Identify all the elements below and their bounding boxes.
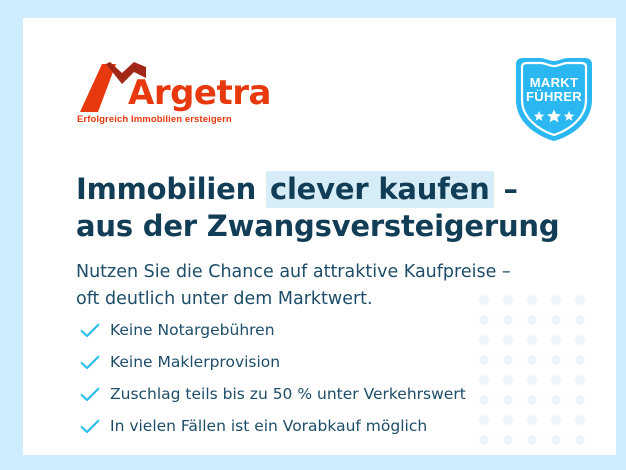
- list-item-label: Keine Maklerprovision: [110, 353, 280, 372]
- subheadline: Nutzen Sie die Chance auf attraktive Kau…: [76, 259, 556, 314]
- subheadline-line-2: oft deutlich unter dem Marktwert.: [76, 286, 556, 314]
- decorative-dot: [551, 355, 561, 365]
- list-item: Keine Notargebühren: [80, 316, 540, 345]
- list-item-label: Zuschlag teils bis zu 50 % unter Verkehr…: [110, 385, 466, 404]
- logo-wordmark: Argetra: [128, 76, 271, 110]
- headline-highlight: clever kaufen: [266, 171, 494, 208]
- decorative-dot: [551, 395, 561, 405]
- marktfuehrer-badge: MARKT FÜHRER: [510, 54, 598, 144]
- decorative-dot: [551, 415, 561, 425]
- decorative-dot: [575, 395, 585, 405]
- check-icon: [80, 321, 110, 341]
- headline: Immobilien clever kaufen – aus der Zwang…: [76, 171, 546, 244]
- decorative-dot: [551, 315, 561, 325]
- check-icon: [80, 353, 110, 373]
- list-item: In vielen Fällen ist ein Vorabkauf mögli…: [80, 412, 540, 441]
- promo-banner: Argetra Erfolgreich Immobilien ersteiger…: [0, 0, 626, 470]
- list-item-label: In vielen Fällen ist ein Vorabkauf mögli…: [110, 417, 427, 436]
- decorative-dot: [575, 315, 585, 325]
- headline-suffix: –: [494, 172, 518, 206]
- benefit-list: Keine Notargebühren Keine Maklerprovisio…: [80, 316, 540, 444]
- decorative-dot: [575, 375, 585, 385]
- banner-card: Argetra Erfolgreich Immobilien ersteiger…: [23, 18, 616, 455]
- argetra-logo: Argetra Erfolgreich Immobilien ersteiger…: [76, 62, 276, 132]
- decorative-dot: [575, 335, 585, 345]
- logo-tagline: Erfolgreich Immobilien ersteigern: [77, 115, 232, 125]
- list-item: Keine Maklerprovision: [80, 348, 540, 377]
- check-icon: [80, 417, 110, 437]
- headline-line-2: aus der Zwangsversteigerung: [76, 208, 546, 245]
- decorative-dot: [551, 435, 561, 445]
- decorative-dot: [575, 415, 585, 425]
- list-item: Zuschlag teils bis zu 50 % unter Verkehr…: [80, 380, 540, 409]
- decorative-dot: [575, 295, 585, 305]
- shield-badge-icon: [510, 131, 598, 148]
- subheadline-line-1: Nutzen Sie die Chance auf attraktive Kau…: [76, 259, 556, 287]
- headline-prefix: Immobilien: [76, 172, 266, 206]
- decorative-dot: [575, 435, 585, 445]
- headline-line-1: Immobilien clever kaufen –: [76, 171, 546, 208]
- list-item-label: Keine Notargebühren: [110, 321, 275, 340]
- check-icon: [80, 385, 110, 405]
- decorative-dot: [551, 335, 561, 345]
- decorative-dot: [551, 375, 561, 385]
- decorative-dot: [575, 355, 585, 365]
